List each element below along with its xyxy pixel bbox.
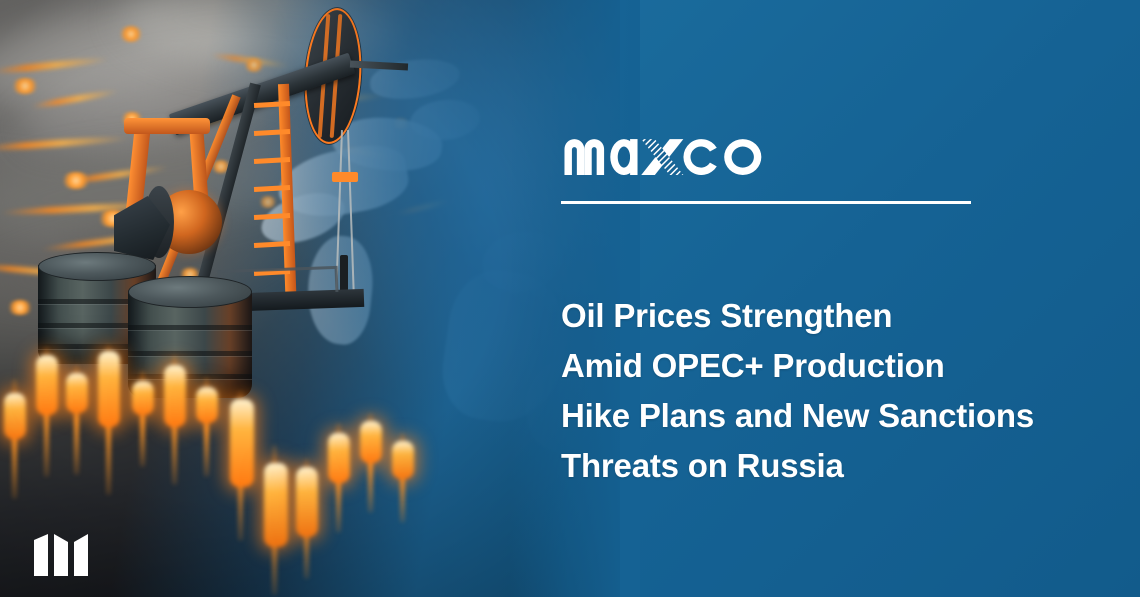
logo-divider bbox=[561, 201, 971, 204]
news-banner: Oil Prices Strengthen Amid OPEC+ Product… bbox=[0, 0, 1140, 597]
headline-line-1: Oil Prices Strengthen bbox=[561, 291, 1121, 341]
maxco-logo[interactable] bbox=[562, 123, 766, 175]
headline: Oil Prices Strengthen Amid OPEC+ Product… bbox=[561, 291, 1121, 491]
headline-line-3: Hike Plans and New Sanctions bbox=[561, 391, 1121, 441]
headline-line-4: Threats on Russia bbox=[561, 441, 1121, 491]
headline-line-2: Amid OPEC+ Production bbox=[561, 341, 1121, 391]
maxco-monogram-icon[interactable] bbox=[34, 534, 88, 576]
